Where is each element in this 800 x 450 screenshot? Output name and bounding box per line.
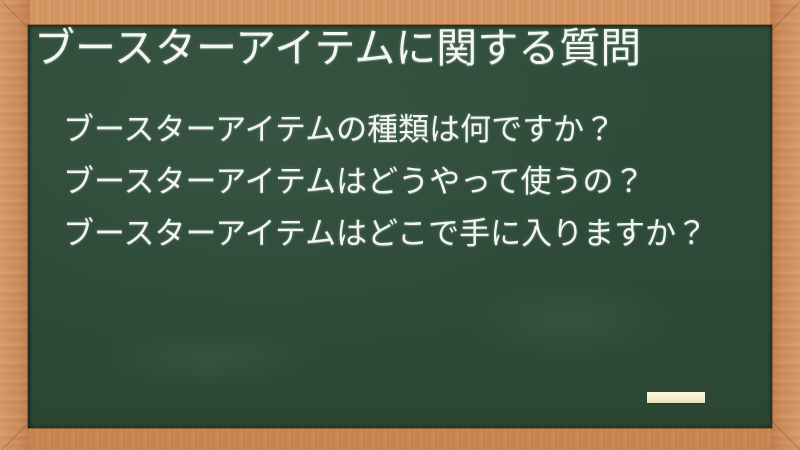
list-item: ブースターアイテムはどうやって使うの？: [63, 156, 753, 208]
chalk-smudge: [88, 325, 328, 395]
frame-rail-right: [770, 0, 800, 450]
list-item: ブースターアイテムの種類は何ですか？: [63, 104, 753, 156]
list-item: ブースターアイテムはどこで手に入りますか？: [63, 208, 753, 260]
frame-rail-left: [0, 0, 30, 450]
blackboard-content: ブースターアイテムに関する質問 ブースターアイテムの種類は何ですか？ ブースター…: [28, 25, 772, 428]
question-list: ブースターアイテムの種類は何ですか？ ブースターアイテムはどうやって使うの？ ブ…: [63, 104, 753, 260]
blackboard-slide: ブースターアイテムに関する質問 ブースターアイテムの種類は何ですか？ ブースター…: [0, 0, 800, 450]
chalk-stick-icon: [647, 392, 705, 403]
blackboard-surface: ブースターアイテムに関する質問 ブースターアイテムの種類は何ですか？ ブースター…: [28, 25, 772, 428]
chalk-smudge: [458, 275, 678, 365]
page-title: ブースターアイテムに関する質問: [34, 28, 764, 69]
